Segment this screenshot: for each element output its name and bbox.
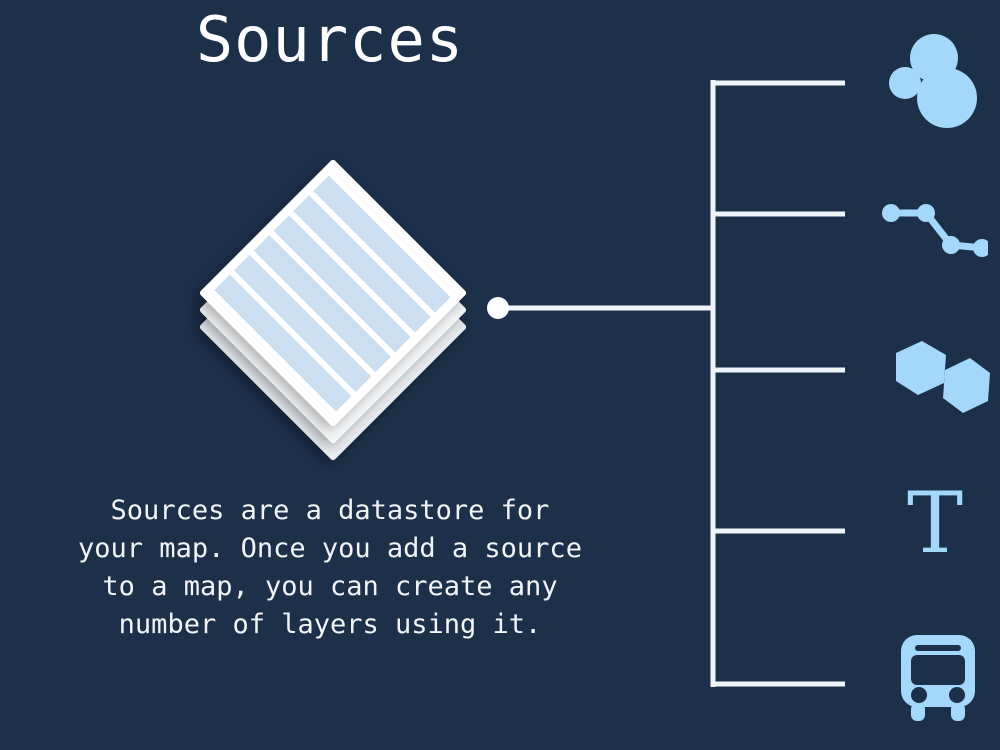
line-node (882, 204, 900, 222)
line-path (891, 213, 984, 248)
hexagon-left (896, 341, 946, 395)
circles-layer-icon (885, 22, 995, 132)
bus-layer-icon (885, 625, 995, 735)
line-node (942, 236, 960, 254)
hexagon-right (943, 358, 990, 413)
bus-headlight-left (911, 687, 927, 703)
circle-large (917, 68, 977, 128)
slide-canvas: Sources Sources are a datastore for your… (0, 0, 1000, 750)
line-layer-icon (878, 185, 988, 295)
line-node (917, 204, 935, 222)
bus-headlight-right (949, 687, 965, 703)
bus-windshield (911, 655, 965, 685)
text-layer-glyph: T (880, 468, 990, 578)
connector-tree (0, 0, 1000, 750)
bus-wheel-right (951, 703, 965, 721)
bus-roof-line (915, 645, 961, 651)
circle-small (889, 67, 921, 99)
text-layer-icon: T (880, 468, 990, 578)
connector-source-dot (487, 297, 509, 319)
bus-wheel-left (911, 703, 925, 721)
polygon-layer-icon (880, 325, 990, 435)
line-node (973, 239, 988, 257)
